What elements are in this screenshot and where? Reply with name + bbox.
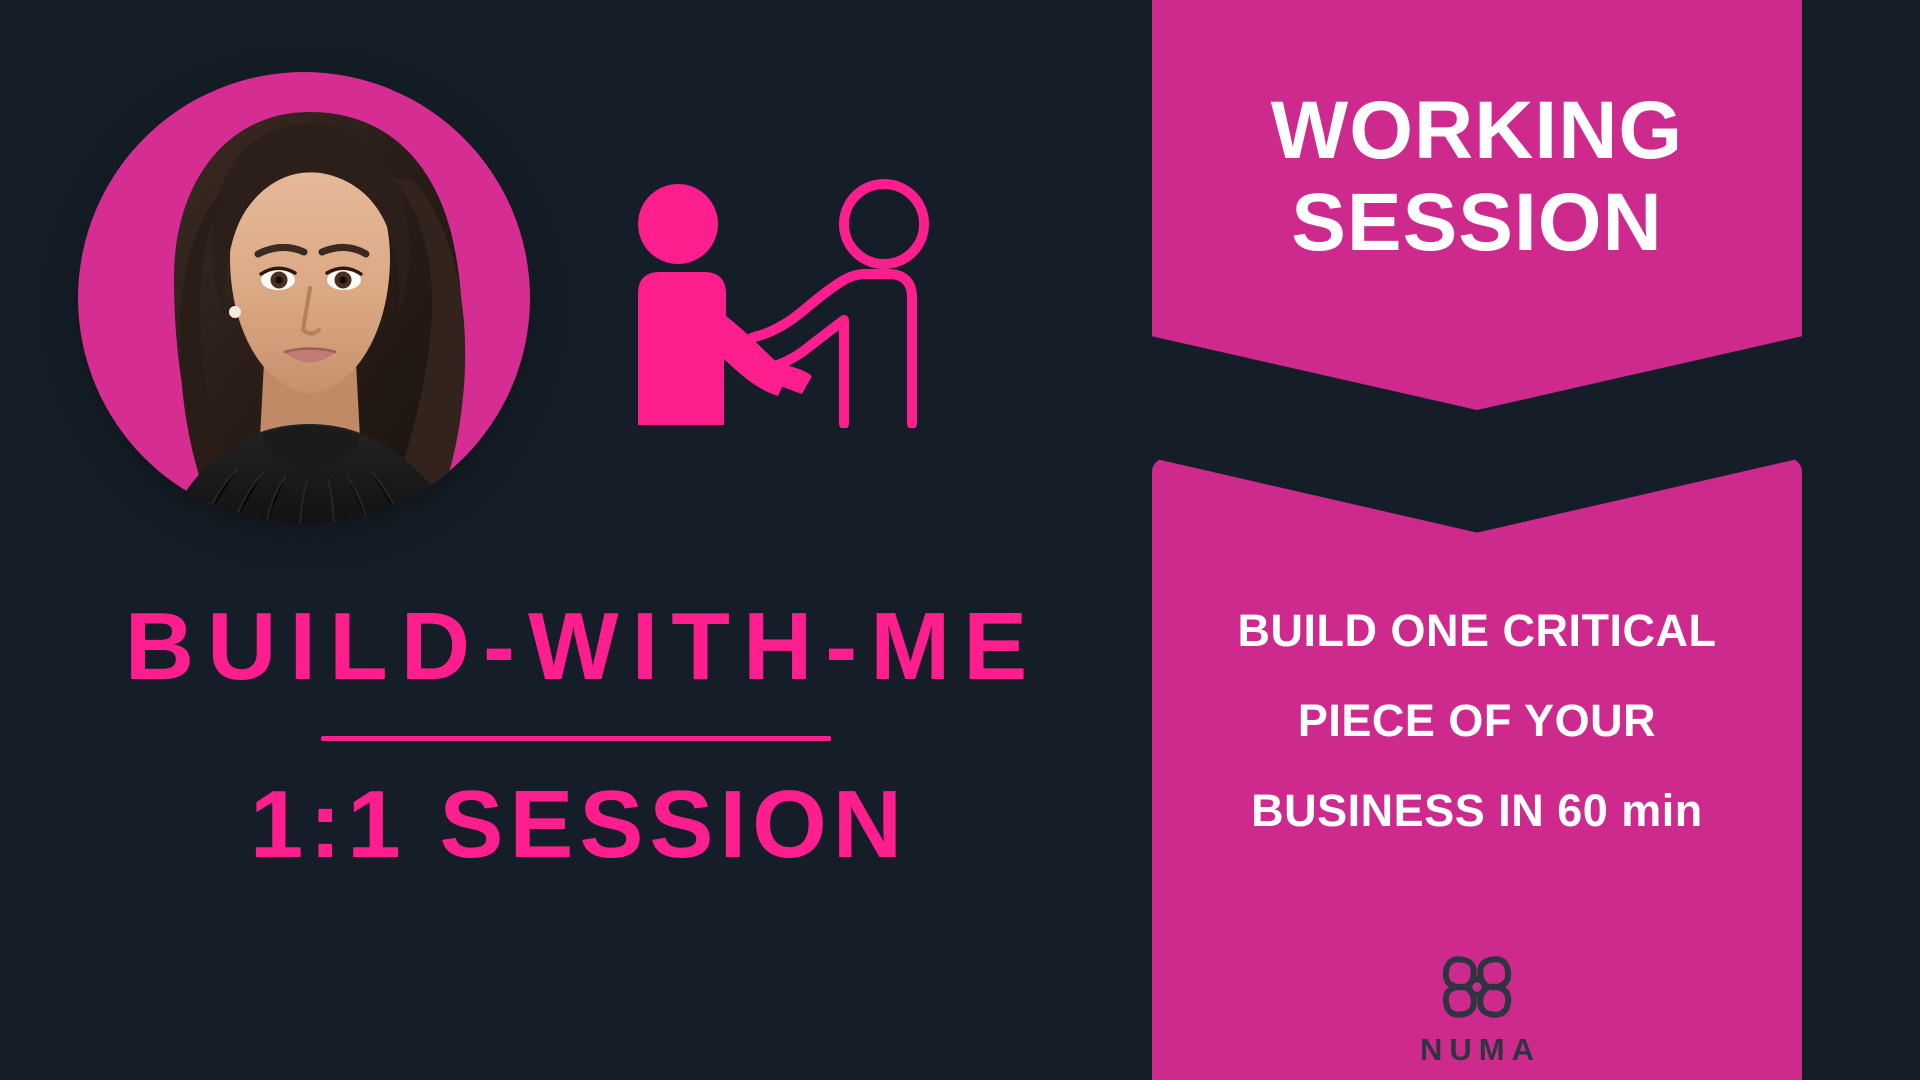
- numa-logo: NUMA: [1152, 944, 1802, 1068]
- left-column: BUILD-WITH-ME 1:1 SESSION: [0, 0, 1152, 1080]
- portrait-photo: [112, 94, 508, 524]
- offer-details-line3: BUSINESS IN 60 min: [1238, 766, 1717, 856]
- working-session-panel: WORKING SESSION: [1152, 0, 1802, 410]
- page-title: BUILD-WITH-ME: [0, 596, 1152, 698]
- offer-details-line2: PIECE OF YOUR: [1238, 676, 1717, 766]
- page-subtitle: 1:1 SESSION: [0, 777, 1152, 873]
- working-session-title-line2: SESSION: [1271, 177, 1683, 269]
- headline-block: BUILD-WITH-ME 1:1 SESSION: [0, 596, 1152, 873]
- numa-wordmark: NUMA: [1413, 1032, 1541, 1068]
- working-session-title-line1: WORKING: [1271, 85, 1683, 177]
- working-session-title: WORKING SESSION: [1271, 85, 1683, 269]
- offer-details-panel: BUILD ONE CRITICAL PIECE OF YOUR BUSINES…: [1152, 458, 1802, 1080]
- promo-slide: BUILD-WITH-ME 1:1 SESSION WORKING SESSIO…: [0, 0, 1920, 1080]
- divider: [321, 736, 831, 741]
- numa-knot-icon: [1434, 944, 1520, 1030]
- handshake-icon: [596, 178, 996, 428]
- offer-details-line1: BUILD ONE CRITICAL: [1238, 586, 1717, 676]
- portrait: [78, 72, 530, 524]
- offer-details-text: BUILD ONE CRITICAL PIECE OF YOUR BUSINES…: [1238, 586, 1717, 856]
